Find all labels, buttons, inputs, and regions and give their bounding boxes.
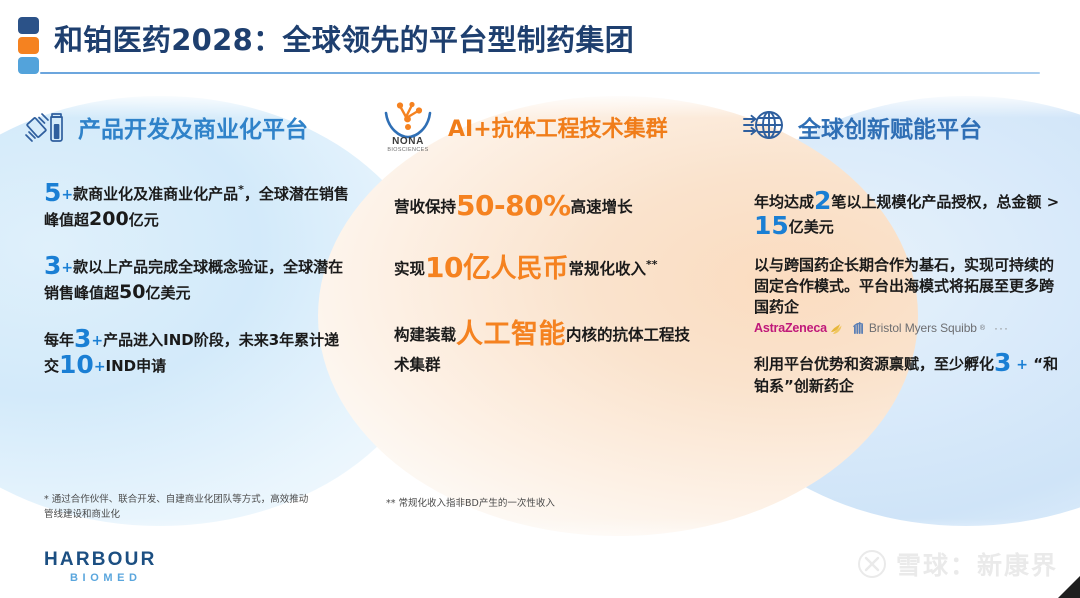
bullet-item: 每年3+产品进入IND阶段，未来3年累计递交10+IND申请: [44, 326, 352, 378]
header-marks: [18, 17, 39, 74]
astrazeneca-logo: AstraZeneca: [754, 320, 844, 336]
navy-square-icon: [18, 17, 39, 34]
bullet-item: 年均达成2笔以上规模化产品授权，总金额 > 15亿美元: [754, 188, 1060, 239]
bms-mark-icon: [853, 321, 866, 335]
blue-square-icon: [18, 57, 39, 74]
bullet-item: 利用平台优势和资源禀赋，至少孵化3 + “和铂系”创新药企: [754, 350, 1060, 397]
bullet-item: 以与跨国药企长期合作为基石，实现可持续的固定合作模式。平台出海模式将拓展至更多跨…: [754, 255, 1060, 319]
column-1-header: 产品开发及商业化平台: [22, 96, 352, 158]
column-2-title: AI+抗体工程技术集群: [448, 111, 668, 143]
column-1-bullets: 5+款商业化及准商业化产品*，全球潜在销售峰值超200亿元 3+款以上产品完成全…: [22, 180, 352, 377]
page-title: 和铂医药2028：全球领先的平台型制药集团: [54, 17, 634, 59]
orange-square-icon: [18, 37, 39, 54]
column-global-innovation: 全球创新赋能平台 年均达成2笔以上规模化产品授权，总金额 > 15亿美元 以与跨…: [740, 96, 1060, 414]
bristol-myers-squibb-logo: Bristol Myers Squibb®: [853, 321, 985, 335]
logo-bottom-text: BIOMED: [70, 573, 157, 584]
column-1-title: 产品开发及商业化平台: [78, 110, 308, 144]
bullet-item: 营收保持50-80%高速增长: [394, 192, 698, 220]
more-partners-label: ···: [994, 321, 1009, 335]
astrazeneca-swirl-icon: [828, 320, 844, 336]
harbour-biomed-logo: HARBOUR BIOMED: [44, 550, 157, 584]
bullet-item: 构建装载人工智能内核的抗体工程技术集群: [394, 316, 698, 376]
slide-header: 和铂医药2028：全球领先的平台型制药集团: [0, 0, 1080, 90]
slide-canvas: 和铂医药2028：全球领先的平台型制药集团: [0, 0, 1080, 598]
corner-marker: [1058, 576, 1080, 598]
column-3-bullets: 年均达成2笔以上规模化产品授权，总金额 > 15亿美元 以与跨国药企长期合作为基…: [740, 188, 1060, 398]
column-3-title: 全球创新赋能平台: [798, 110, 982, 144]
syringe-vial-icon: [22, 105, 68, 150]
column-product-development: 产品开发及商业化平台 5+款商业化及准商业化产品*，全球潜在销售峰值超200亿元…: [22, 96, 352, 397]
bullet-item: 3+款以上产品完成全球概念验证，全球潜在销售峰值超50亿美元: [44, 253, 352, 306]
column-2-bullets: 营收保持50-80%高速增长 实现10亿人民币常规化收入** 构建装载人工智能内…: [378, 192, 698, 376]
column-ai-antibody: NONA BIOSCIENCES AI+抗体工程技术集群 营收保持50-80%高…: [378, 96, 698, 410]
logo-top-text: HARBOUR: [44, 550, 157, 569]
globe-arrows-icon: [740, 104, 788, 151]
bullet-item: 实现10亿人民币常规化收入**: [394, 254, 698, 282]
svg-text:BIOSCIENCES: BIOSCIENCES: [387, 147, 428, 153]
watermark-text: 雪球：新康界: [896, 546, 1058, 582]
column-3-header: 全球创新赋能平台: [740, 96, 1060, 158]
xueqiu-logo-icon: [857, 549, 887, 579]
column-2-header: NONA BIOSCIENCES AI+抗体工程技术集群: [378, 96, 698, 158]
columns-container: 产品开发及商业化平台 5+款商业化及准商业化产品*，全球潜在销售峰值超200亿元…: [0, 96, 1080, 536]
nona-biosciences-logo-icon: NONA BIOSCIENCES: [378, 97, 438, 158]
xueqiu-watermark: 雪球：新康界: [857, 546, 1058, 582]
partner-logos: AstraZeneca: [754, 320, 1060, 336]
header-divider: [40, 72, 1040, 74]
svg-text:NONA: NONA: [392, 136, 424, 147]
bullet-item: 5+款商业化及准商业化产品*，全球潜在销售峰值超200亿元: [44, 180, 352, 233]
